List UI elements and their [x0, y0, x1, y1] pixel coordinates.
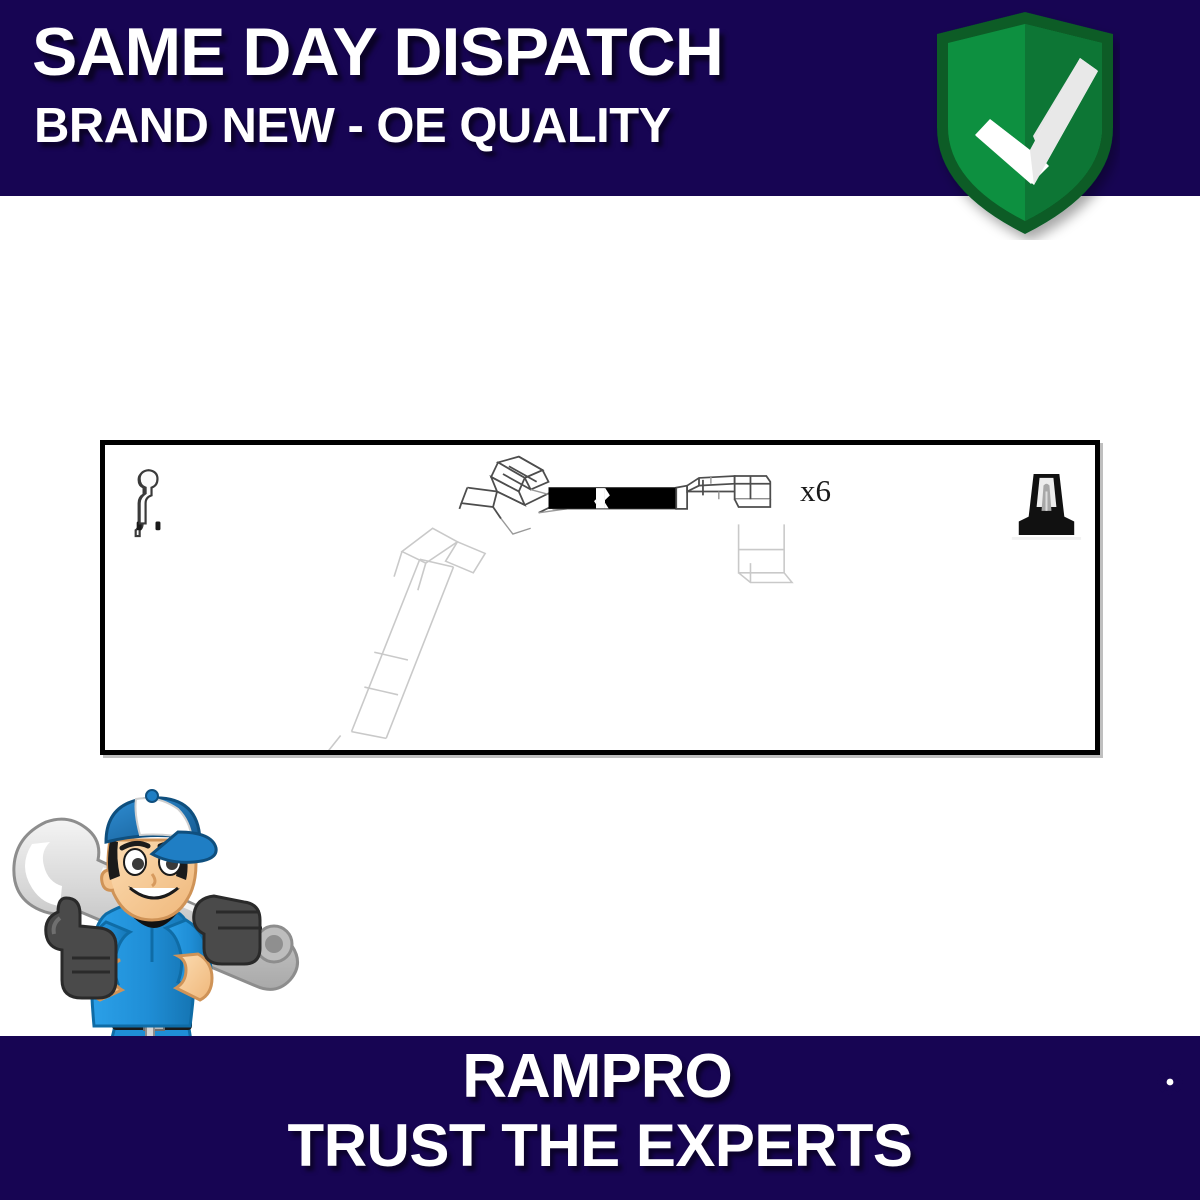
banner-subline: BRAND NEW - OE QUALITY: [34, 102, 671, 151]
bottom-banner: [0, 1036, 1200, 1200]
banner-headline: SAME DAY DISPATCH: [32, 18, 723, 86]
ignition-lead-set-drawing: [105, 445, 1095, 750]
right-glove-icon: [194, 896, 262, 964]
product-diagram-box: [100, 440, 1100, 755]
shield-check-icon: [930, 8, 1120, 240]
product-listing-image: SAME DAY DISPATCH BRAND NEW - OE QUALITY: [0, 0, 1200, 1200]
rubber-boot-icon: [1019, 474, 1074, 535]
ignition-cable: [549, 488, 677, 509]
ghost-lead-outline: [327, 528, 485, 750]
plug-end-connector: [676, 476, 770, 509]
ghost-boot-outline: [739, 524, 792, 582]
quantity-label: x6: [800, 473, 831, 509]
